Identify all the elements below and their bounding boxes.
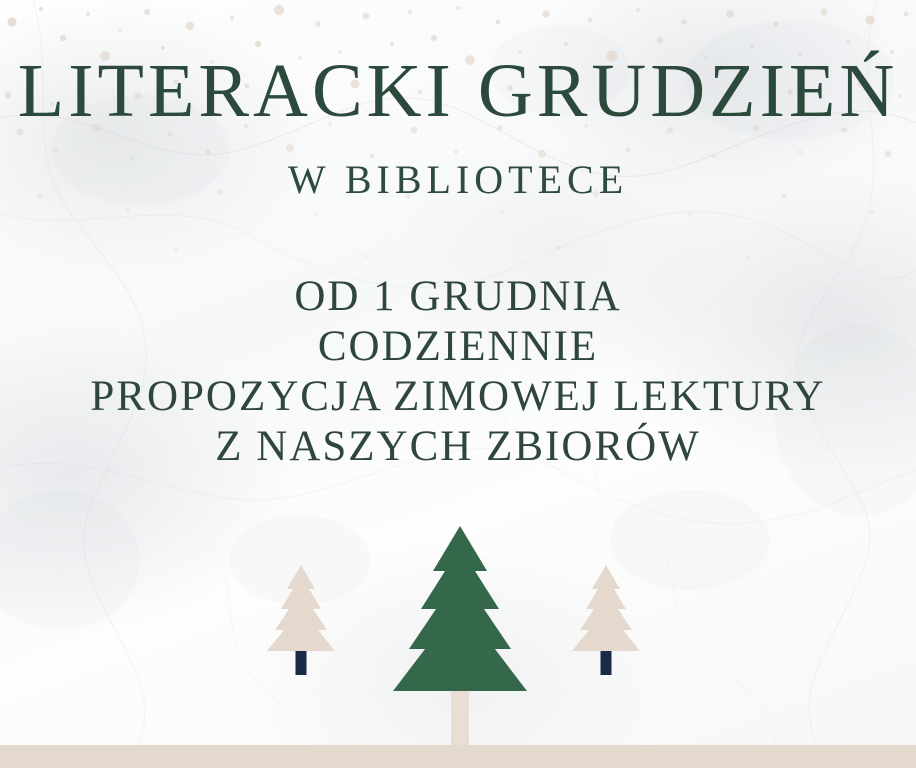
body-line-4: Z NASZYCH ZBIORÓW: [0, 422, 916, 472]
poster-canvas: LITERACKI GRUDZIEŃ W BIBLIOTECE OD 1 GRU…: [0, 0, 916, 768]
center-tree: [363, 523, 557, 749]
ground-band: [0, 745, 916, 768]
poster-headline: LITERACKI GRUDZIEŃ: [0, 48, 916, 134]
poster-subheadline: W BIBLIOTECE: [0, 156, 916, 204]
left-tree: [251, 563, 351, 685]
body-line-2: CODZIENNIE: [0, 322, 916, 372]
body-line-1: OD 1 GRUDNIA: [0, 272, 916, 322]
body-line-3: PROPOZYCJA ZIMOWEJ LEKTURY: [0, 372, 916, 422]
poster-body-text: OD 1 GRUDNIA CODZIENNIE PROPOZYCJA ZIMOW…: [0, 272, 916, 472]
right-tree: [556, 563, 656, 685]
